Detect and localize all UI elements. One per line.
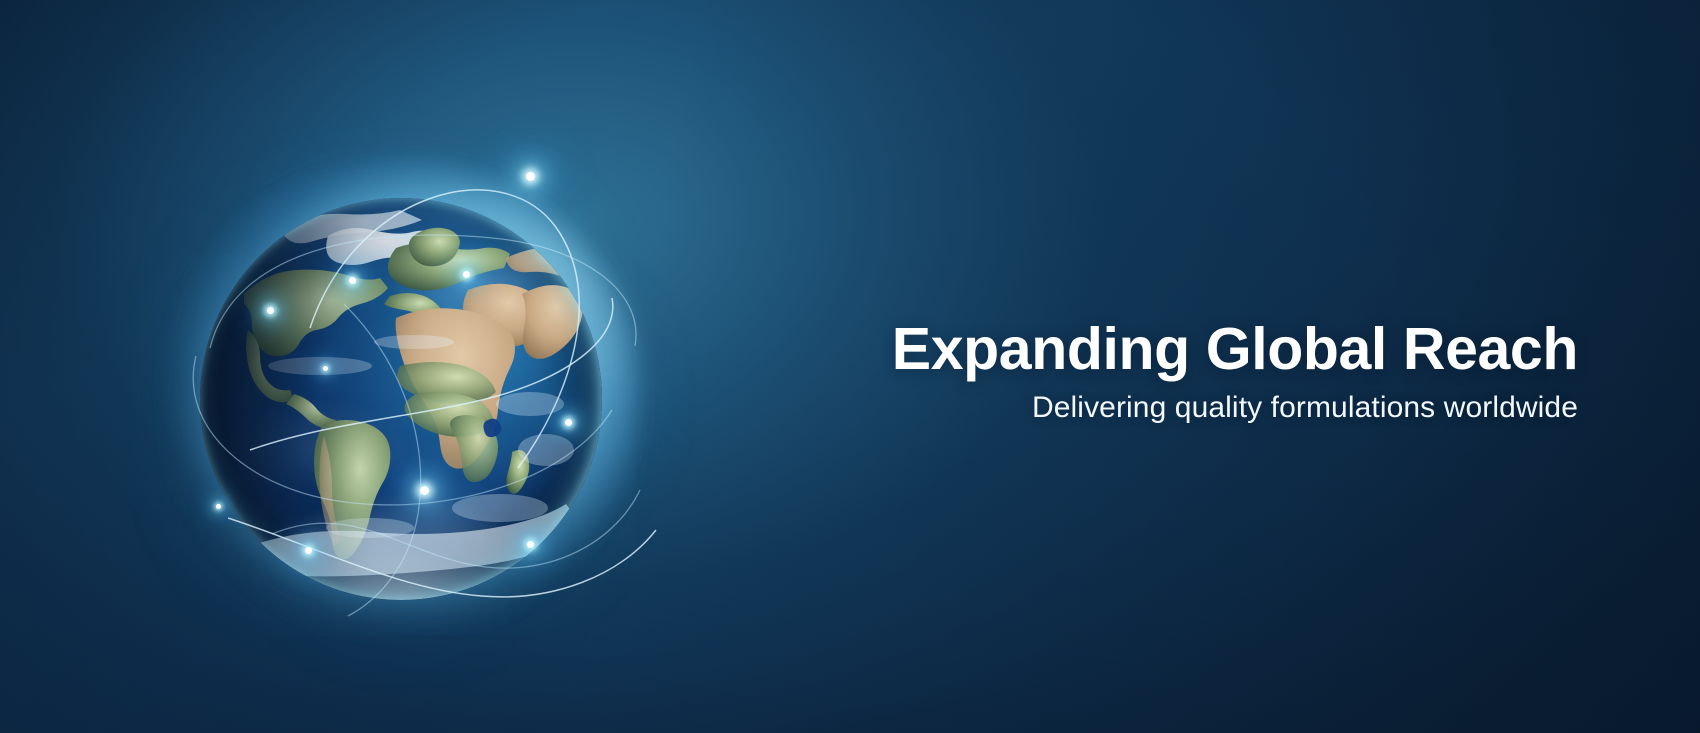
hero-banner: Expanding Global Reach Delivering qualit… [0,0,1700,733]
hero-copy-block: Expanding Global Reach Delivering qualit… [818,318,1578,424]
network-node [323,366,328,371]
orbit-path-2 [210,235,636,348]
network-node [463,271,470,278]
network-node [527,541,534,548]
network-node [349,277,356,284]
network-node [420,486,429,495]
orbit-path-3 [193,356,612,505]
network-node [216,504,221,509]
network-node [526,172,535,181]
network-node [305,547,312,554]
orbit-path-5 [272,490,640,568]
orbit-path-4 [250,298,613,450]
page-subtitle: Delivering quality formulations worldwid… [818,391,1578,424]
earth-globe [160,158,640,638]
orbital-network-lines [160,158,640,638]
orbit-path-7 [344,304,421,616]
network-node [565,419,572,426]
page-title: Expanding Global Reach [818,318,1578,381]
network-node [267,307,274,314]
orbit-path-1 [310,190,579,468]
